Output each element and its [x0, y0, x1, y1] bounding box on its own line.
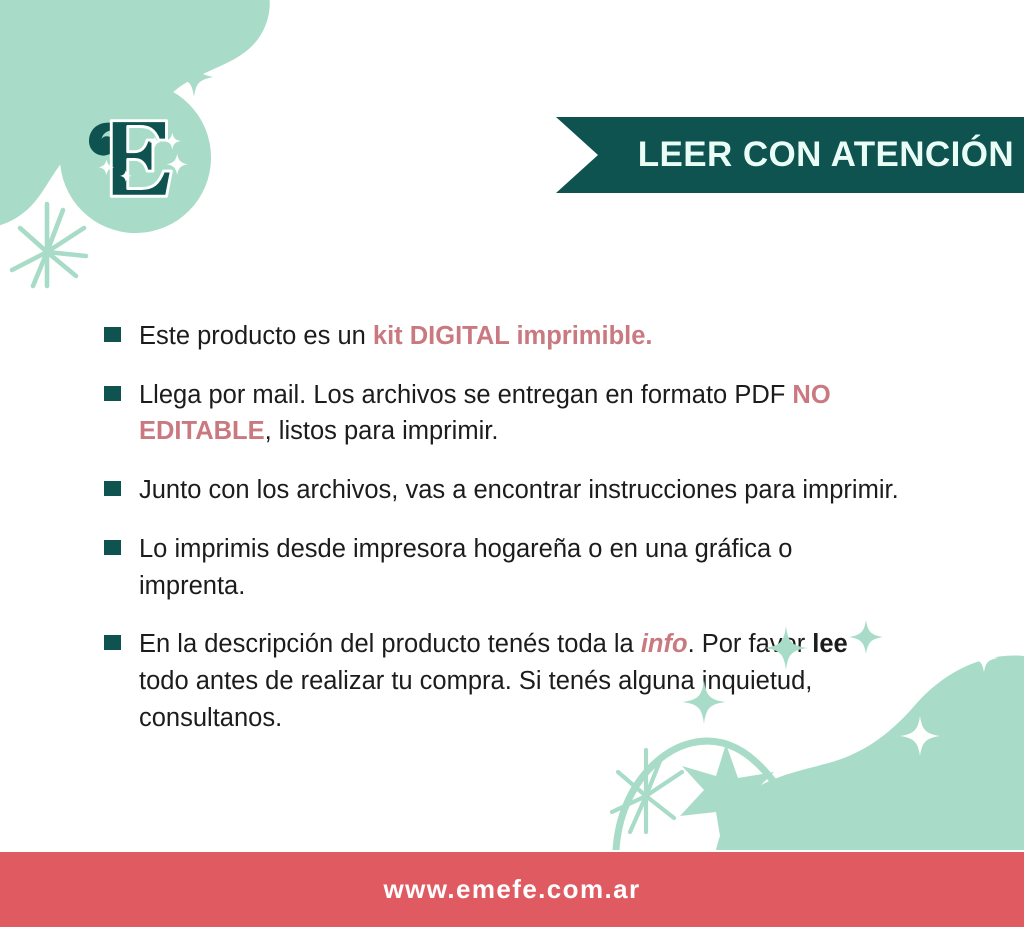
emefe-logo: [58, 80, 213, 235]
bullet-square-icon: [104, 481, 121, 496]
list-item: Este producto es un kit DIGITAL imprimib…: [104, 318, 904, 355]
footer-bar: www.emefe.com.ar: [0, 852, 1024, 927]
list-item-text: Este producto es un kit DIGITAL imprimib…: [139, 318, 653, 355]
bullet-square-icon: [104, 540, 121, 555]
bullet-square-icon: [104, 386, 121, 401]
bullet-square-icon: [104, 635, 121, 650]
list-item-text: En la descripción del producto tenés tod…: [139, 626, 904, 736]
list-item: En la descripción del producto tenés tod…: [104, 626, 904, 736]
instruction-list: Este producto es un kit DIGITAL imprimib…: [104, 318, 904, 736]
attention-banner: LEER CON ATENCIÓN: [556, 117, 1024, 193]
list-item: Llega por mail. Los archivos se entregan…: [104, 377, 904, 450]
flyer-canvas: LEER CON ATENCIÓN Este producto es un ki…: [0, 0, 1024, 927]
list-item: Lo imprimis desde impresora hogareña o e…: [104, 531, 904, 604]
bullet-square-icon: [104, 327, 121, 342]
list-item-text: Lo imprimis desde impresora hogareña o e…: [139, 531, 904, 604]
list-item-text: Junto con los archivos, vas a encontrar …: [139, 472, 899, 509]
list-item-text: Llega por mail. Los archivos se entregan…: [139, 377, 904, 450]
banner-title: LEER CON ATENCIÓN: [638, 135, 1024, 175]
list-item: Junto con los archivos, vas a encontrar …: [104, 472, 904, 509]
footer-website-url[interactable]: www.emefe.com.ar: [384, 874, 641, 905]
